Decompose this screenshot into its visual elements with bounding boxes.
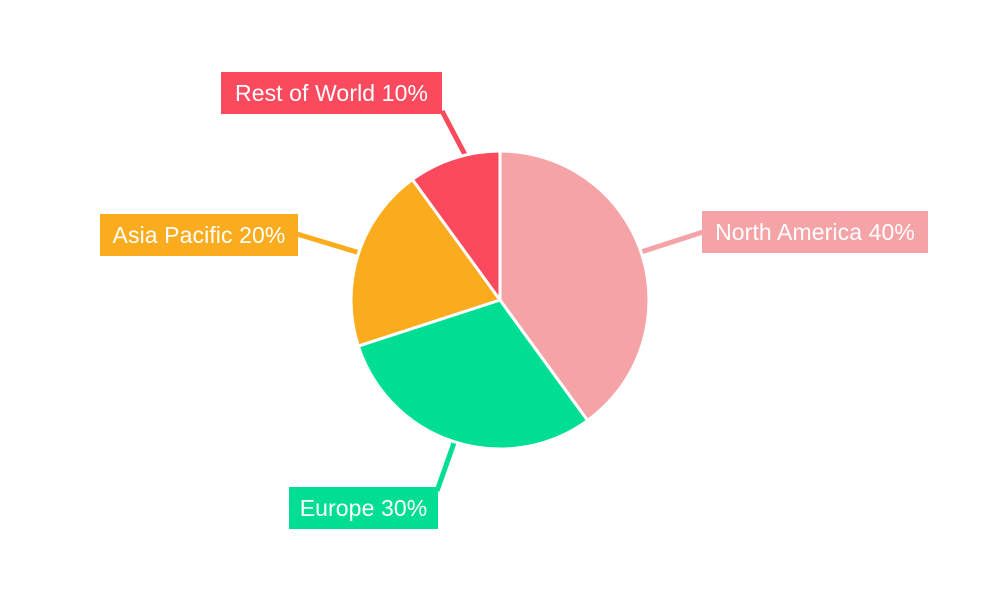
slice-label-asia-pacific-text: Asia Pacific 20% bbox=[113, 224, 286, 247]
leader-line-europe bbox=[437, 440, 455, 491]
pie-slices bbox=[351, 151, 649, 449]
slice-label-north-america[interactable]: North America 40% bbox=[702, 211, 928, 253]
slice-label-north-america-text: North America 40% bbox=[715, 221, 915, 244]
leader-line-north-america bbox=[641, 232, 703, 252]
slice-label-rest-of-world[interactable]: Rest of World 10% bbox=[221, 72, 442, 114]
slice-label-asia-pacific[interactable]: Asia Pacific 20% bbox=[100, 214, 298, 256]
slice-label-europe[interactable]: Europe 30% bbox=[289, 487, 438, 529]
pie-chart-figure: North America 40% Europe 30% Asia Pacifi… bbox=[0, 0, 1000, 600]
slice-label-rest-of-world-text: Rest of World 10% bbox=[235, 82, 428, 105]
pie-chart-canvas bbox=[0, 0, 1000, 600]
slice-label-europe-text: Europe 30% bbox=[300, 497, 428, 520]
leader-line-asia-pacific bbox=[297, 234, 360, 253]
